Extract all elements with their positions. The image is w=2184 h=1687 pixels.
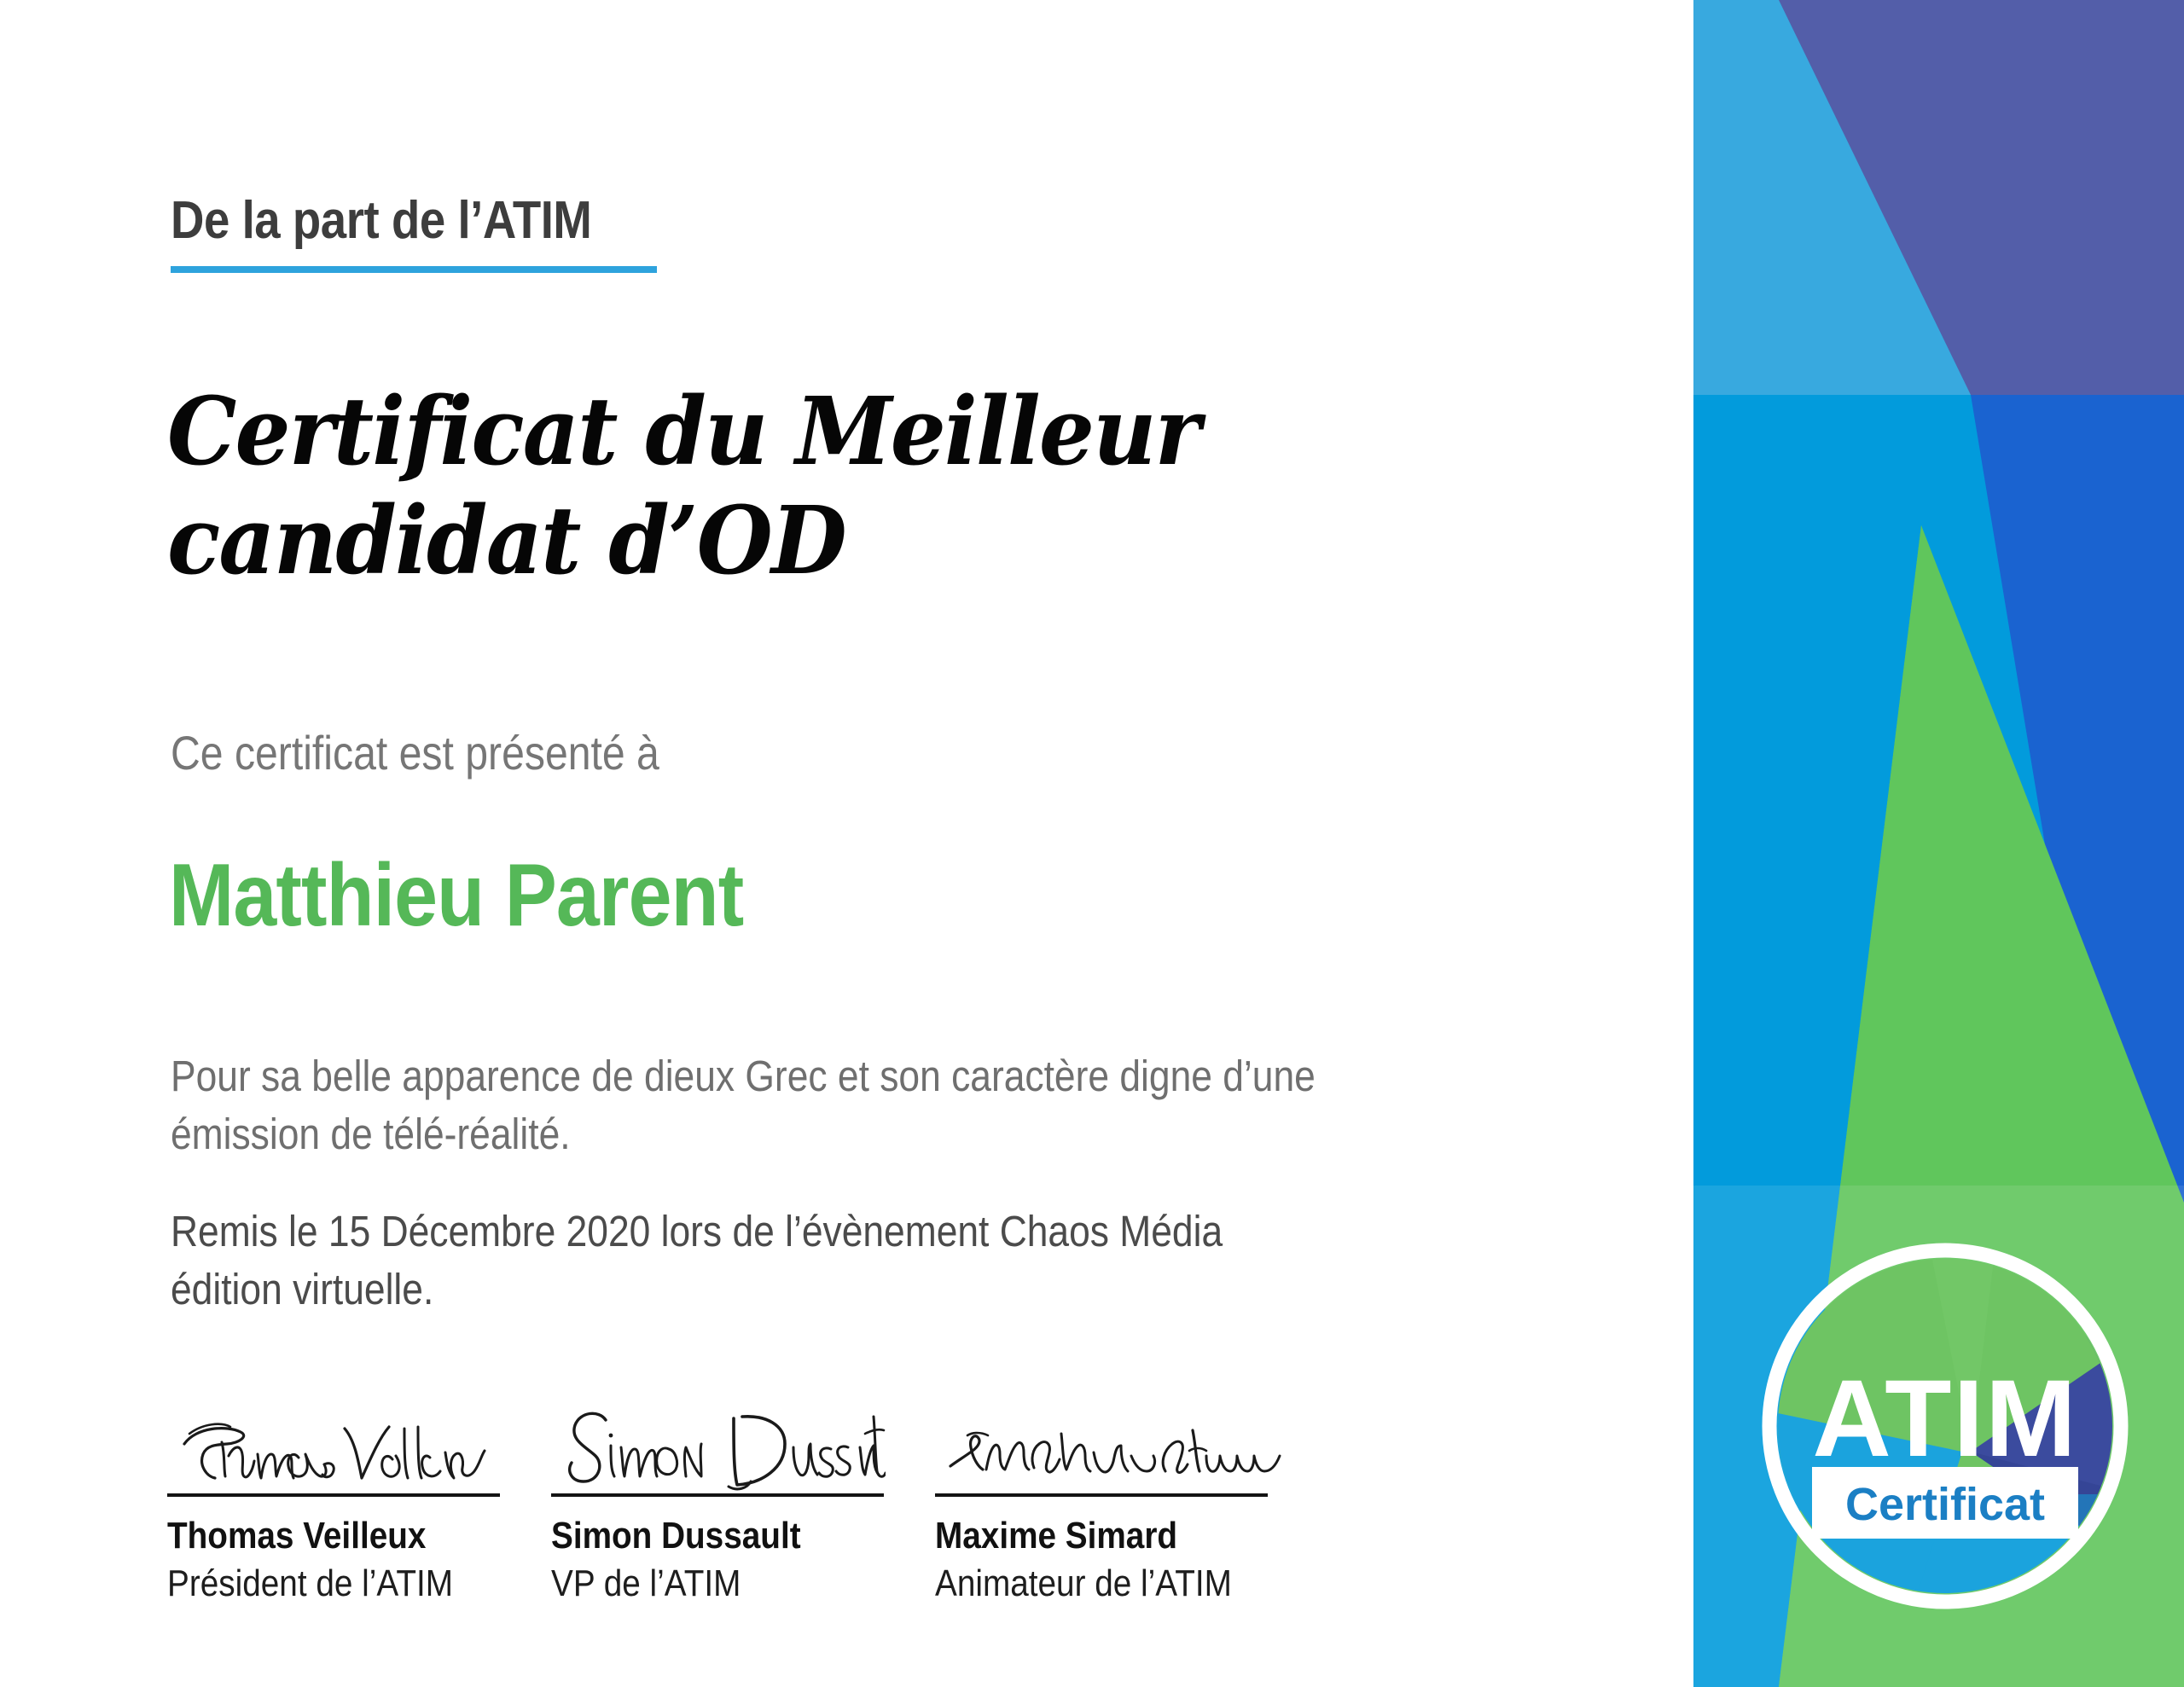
accent-rule: [171, 266, 657, 273]
reason-text: Pour sa belle apparence de dieux Grec et…: [171, 1047, 1328, 1163]
atim-brand-text: ATIM: [1812, 1358, 2077, 1480]
certificate-title: Certificat du Meilleur candidat d’OD: [167, 377, 1318, 594]
from-block: De la part de l’ATIM: [171, 194, 1365, 273]
recipient-name: Matthieu Parent: [169, 851, 743, 940]
signatory-role: Président de l’ATIM: [167, 1563, 505, 1604]
from-label: De la part de l’ATIM: [171, 194, 1222, 247]
event-text: Remis le 15 Décembre 2020 lors de l’évèn…: [171, 1203, 1328, 1319]
signature-block-vp: Simon Dussault VP de l’ATIM: [551, 1412, 935, 1603]
atim-logo-badge: ATIM Certificat: [1757, 1238, 2133, 1614]
signature-row: Thomas Veilleux Président de l’ATIM: [167, 1412, 1549, 1603]
certificate-content: De la part de l’ATIM Certificat du Meill…: [0, 0, 1693, 1687]
atim-caption-text: Certificat: [1845, 1479, 2045, 1530]
signatory-role: Animateur de l’ATIM: [935, 1563, 1273, 1604]
signatory-name: Maxime Simard: [935, 1516, 1273, 1557]
signatory-name: Simon Dussault: [551, 1516, 889, 1557]
signature-block-president: Thomas Veilleux Président de l’ATIM: [167, 1412, 551, 1603]
signatory-role: VP de l’ATIM: [551, 1563, 889, 1604]
certificate-page: De la part de l’ATIM Certificat du Meill…: [0, 0, 2184, 1687]
signature-mark-thomas-veilleux: [167, 1412, 551, 1493]
signature-mark-simon-dussault: [551, 1412, 935, 1493]
presented-to-label: Ce certificat est présenté à: [171, 729, 659, 777]
signature-mark-maxime-simard: [935, 1412, 1319, 1493]
signature-block-animateur: Maxime Simard Animateur de l’ATIM: [935, 1412, 1319, 1603]
signatory-name: Thomas Veilleux: [167, 1516, 505, 1557]
